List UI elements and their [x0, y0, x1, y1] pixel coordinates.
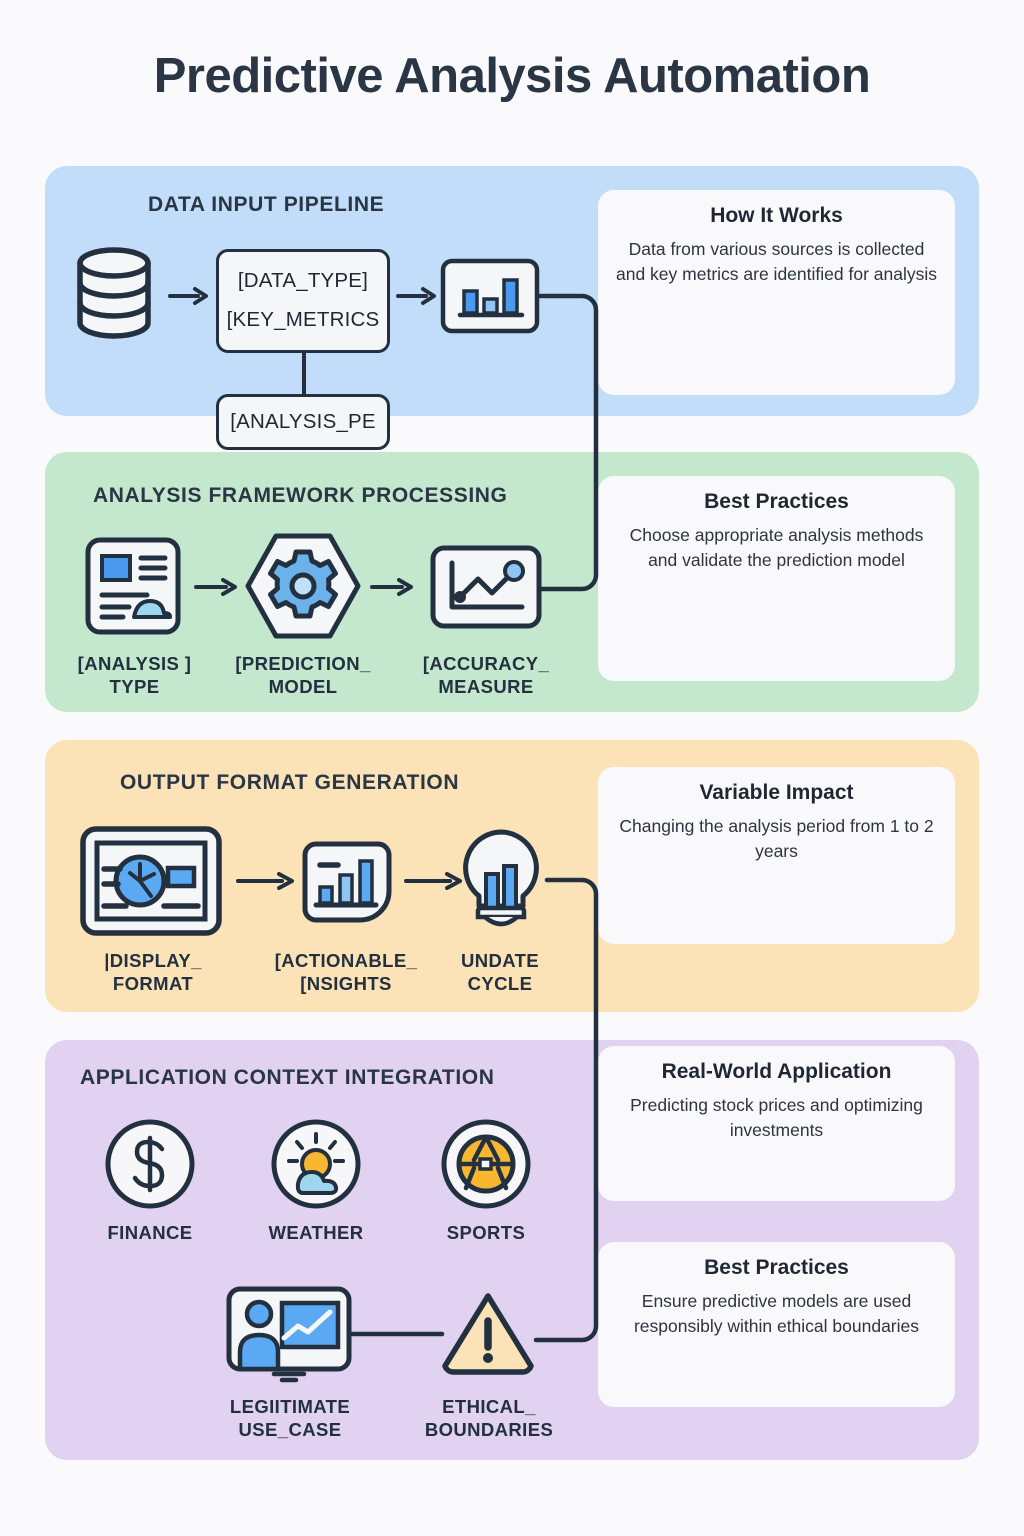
document-report-icon	[85, 537, 181, 635]
connector-datatype-to-period	[300, 352, 308, 396]
arrow-db-to-datatype	[168, 287, 210, 305]
label-weather: WEATHER	[252, 1222, 380, 1245]
analysis-period-box[interactable]: [ANALYSIS_PE	[216, 394, 390, 450]
lightbulb-bars-icon	[455, 828, 547, 936]
card-how-it-works-title: How It Works	[616, 204, 937, 228]
data-type-line2: [KEY_METRICS	[227, 301, 380, 340]
label-ethical-boundaries: ETHICAL_ BOUNDARIES	[406, 1396, 572, 1441]
presentation-person-icon	[226, 1286, 352, 1386]
warning-triangle-icon	[440, 1290, 536, 1376]
card-best-practices-analysis-body: Choose appropriate analysis methods and …	[616, 523, 937, 573]
label-actionable-insights: [ACTIONABLE_ [NSIGHTS	[256, 950, 436, 995]
bar-chart-icon	[440, 258, 540, 334]
card-best-practices-ethics-title: Best Practices	[616, 1256, 937, 1280]
section-title-output-format: OUTPUT FORMAT GENERATION	[120, 771, 459, 795]
arrow-model-to-accuracy	[370, 578, 416, 596]
card-best-practices-ethics-body: Ensure predictive models are used respon…	[616, 1289, 937, 1339]
gear-hexagon-icon	[243, 531, 363, 641]
card-how-it-works: How It Works Data from various sources i…	[598, 190, 955, 395]
basketball-circle-icon	[440, 1118, 532, 1210]
database-icon	[72, 247, 156, 339]
card-real-world-application: Real-World Application Predicting stock …	[598, 1046, 955, 1201]
insights-bars-icon	[302, 841, 392, 923]
card-variable-impact-body: Changing the analysis period from 1 to 2…	[616, 814, 937, 864]
card-best-practices-analysis: Best Practices Choose appropriate analys…	[598, 476, 955, 681]
section-title-analysis-framework: ANALYSIS FRAMEWORK PROCESSING	[93, 484, 508, 508]
section-title-data-input-pipeline: DATA INPUT PIPELINE	[148, 193, 384, 217]
dashboard-clock-icon	[80, 826, 222, 936]
label-sports: SPORTS	[424, 1222, 548, 1245]
card-real-world-application-title: Real-World Application	[616, 1060, 937, 1084]
card-best-practices-analysis-title: Best Practices	[616, 490, 937, 514]
label-update-cycle: UNDATE CYCLE	[438, 950, 562, 995]
section-title-application-context: APPLICATION CONTEXT INTEGRATION	[80, 1066, 494, 1090]
label-prediction-model: [PREDICTION_ MODEL	[233, 653, 373, 698]
card-real-world-application-body: Predicting stock prices and optimizing i…	[616, 1093, 937, 1143]
card-variable-impact-title: Variable Impact	[616, 781, 937, 805]
card-variable-impact: Variable Impact Changing the analysis pe…	[598, 767, 955, 944]
analysis-period-line1: [ANALYSIS_PE	[230, 403, 376, 442]
label-analysis-type: [ANALYSIS ] TYPE	[72, 653, 197, 698]
arrow-analysis-to-model	[194, 578, 240, 596]
label-finance: FINANCE	[88, 1222, 212, 1245]
dollar-circle-icon	[104, 1118, 196, 1210]
label-display-format: |DISPLAY_ FORMAT	[85, 950, 221, 995]
line-chart-icon	[430, 545, 542, 629]
data-type-box[interactable]: [DATA_TYPE] [KEY_METRICS	[216, 249, 390, 353]
sun-cloud-circle-icon	[270, 1118, 362, 1210]
arrow-display-to-insights	[236, 872, 298, 890]
label-accuracy-measure: [ACCURACY_ MEASURE	[420, 653, 552, 698]
card-how-it-works-body: Data from various sources is collected a…	[616, 237, 937, 287]
page-title: Predictive Analysis Automation	[0, 48, 1024, 104]
arrow-datatype-to-chart	[396, 287, 438, 305]
label-legitimate-use-case: LEGIITIMATE USE_CASE	[212, 1396, 368, 1441]
data-type-line1: [DATA_TYPE]	[238, 262, 368, 301]
card-best-practices-ethics: Best Practices Ensure predictive models …	[598, 1242, 955, 1407]
infographic-page: Predictive Analysis Automation DATA INPU…	[0, 0, 1024, 1536]
